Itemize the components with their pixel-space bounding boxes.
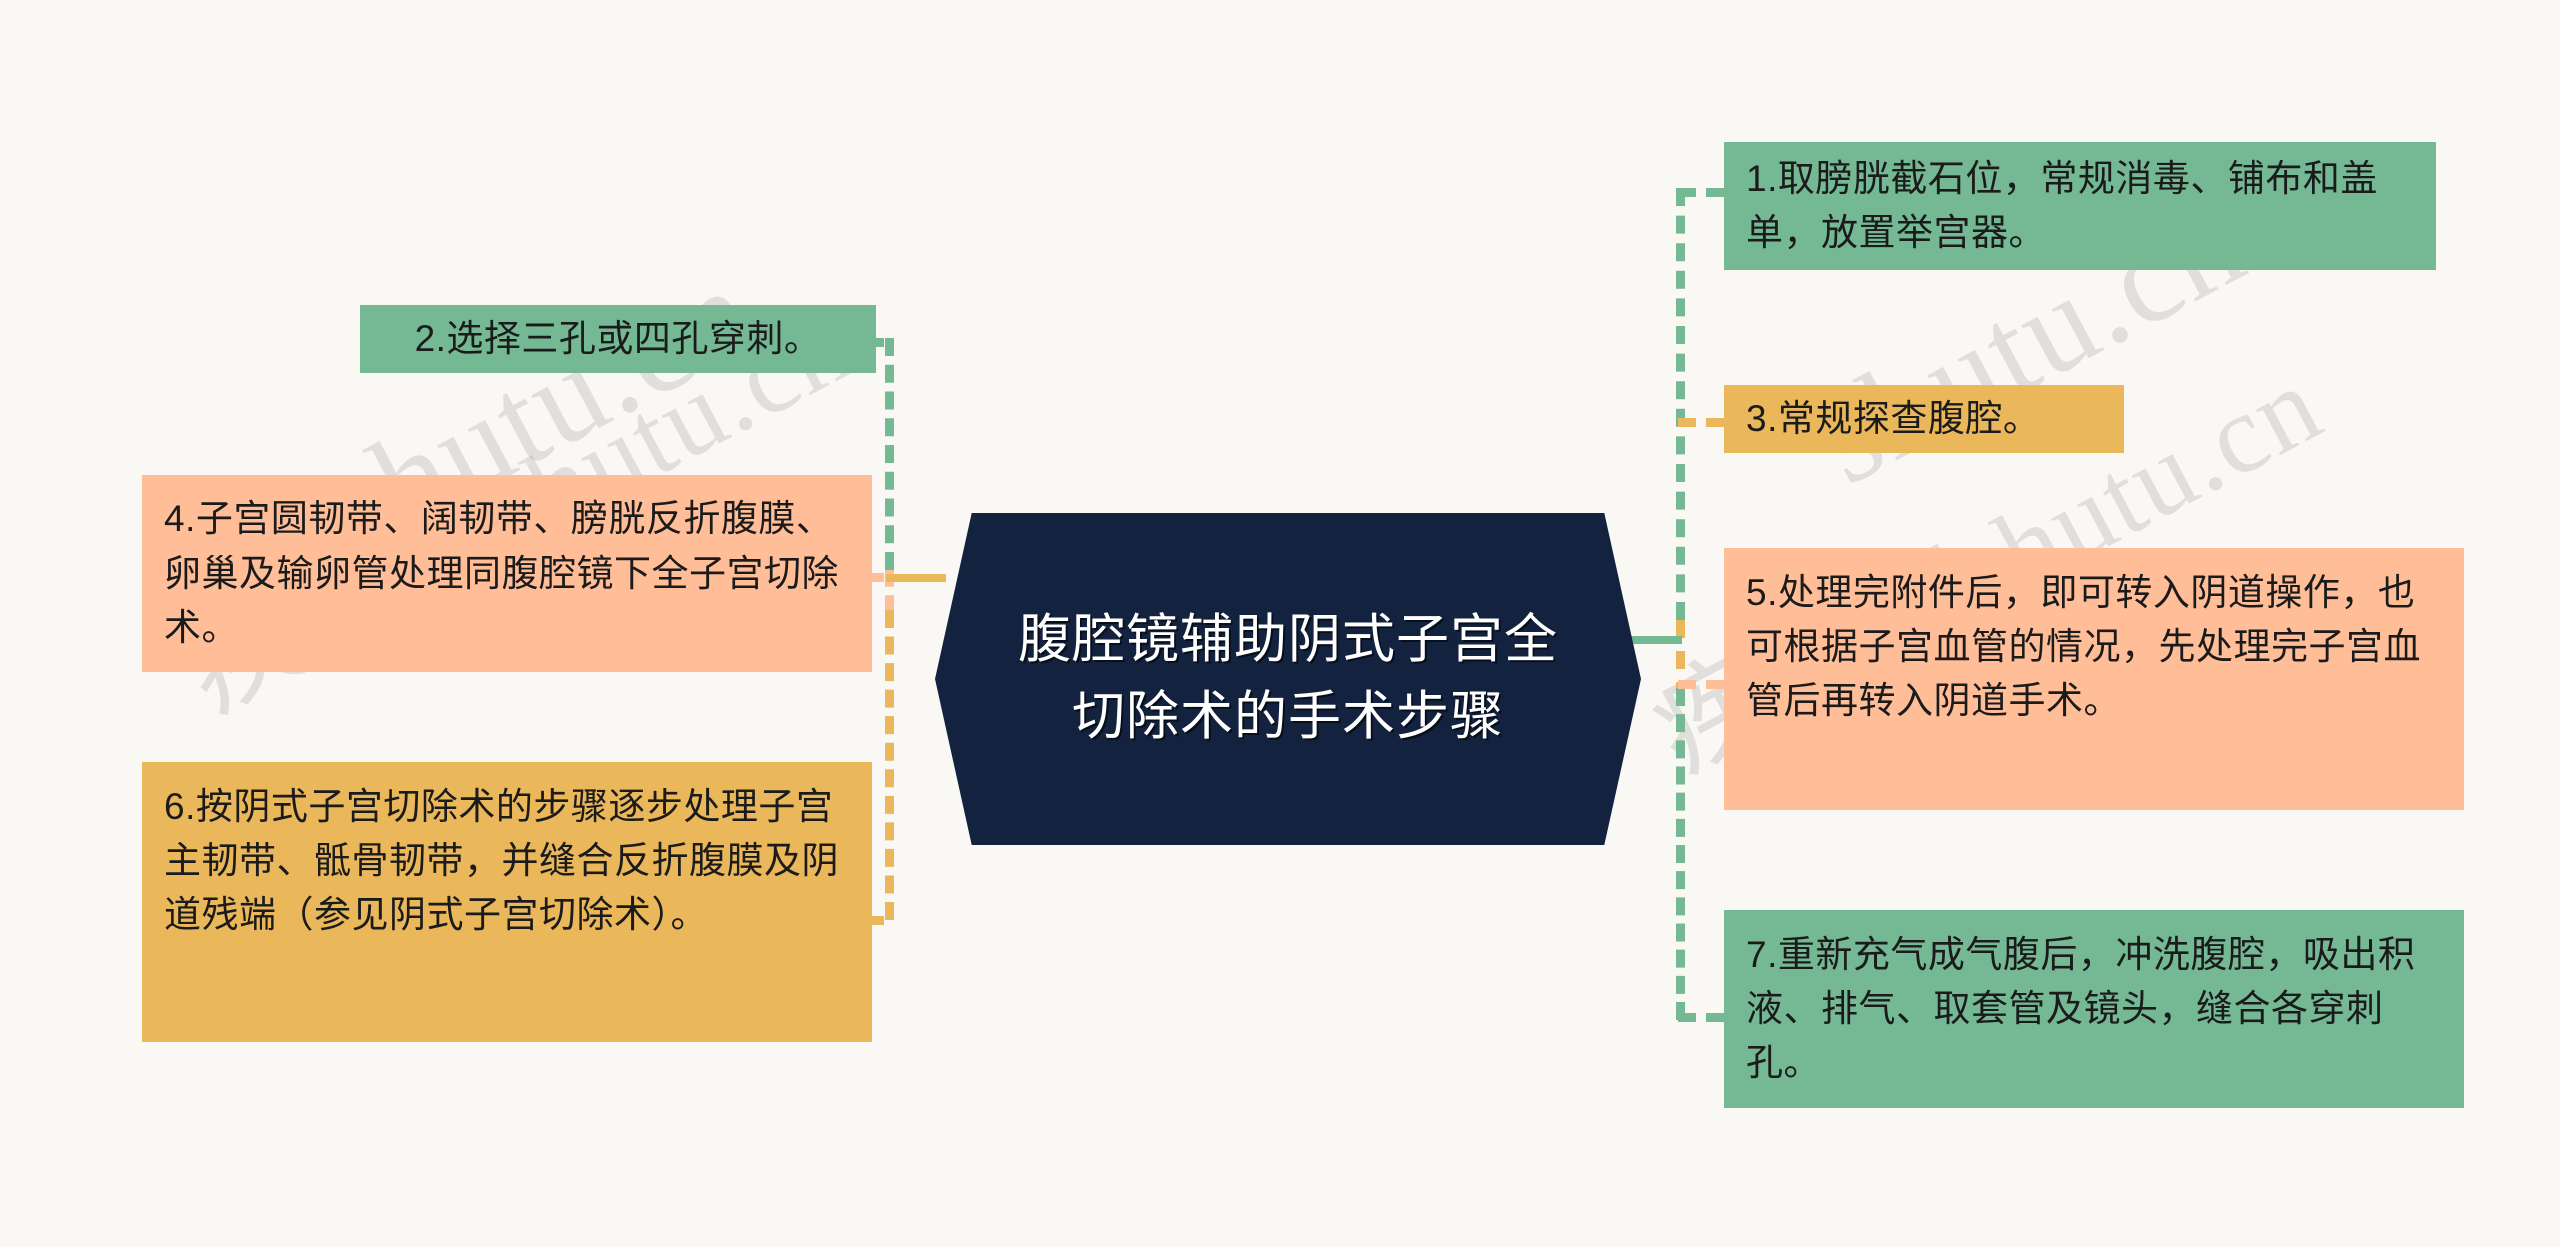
branch-node-step-5[interactable]: 5.处理完附件后，即可转入阴道操作，也可根据子宫血管的情况，先处理完子宫血管后再… [1724, 548, 2464, 810]
right-trunk-green-lower [1676, 688, 1685, 1020]
branch-node-step-2[interactable]: 2.选择三孔或四孔穿刺。 [360, 305, 876, 373]
branch-node-step-1[interactable]: 1.取膀胱截石位，常规消毒、铺布和盖单，放置举宫器。 [1724, 142, 2436, 270]
branch-node-step-4[interactable]: 4.子宫圆韧带、阔韧带、膀胱反折腹膜、卵巢及输卵管处理同腹腔镜下全子宫切除术。 [142, 475, 872, 672]
branch-label-step-7: 7.重新充气成气腹后，冲洗腹腔，吸出积液、排气、取套管及镜头，缝合各穿刺孔。 [1746, 928, 2442, 1090]
left-connector-to-center [886, 574, 946, 582]
branch-label-step-2: 2.选择三孔或四孔穿刺。 [382, 312, 854, 366]
right-stub-step-3 [1678, 418, 1724, 427]
branch-label-step-6: 6.按阴式子宫切除术的步骤逐步处理子宫主韧带、骶骨韧带，并缝合反折腹膜及阴道残端… [164, 780, 850, 942]
right-trunk-green-upper [1676, 188, 1685, 620]
branch-label-step-4: 4.子宫圆韧带、阔韧带、膀胱反折腹膜、卵巢及输卵管处理同腹腔镜下全子宫切除术。 [164, 492, 850, 654]
left-trunk-orange [885, 610, 894, 920]
left-trunk-green [885, 338, 894, 570]
center-node-label: 腹腔镜辅助阴式子宫全切除术的手术步骤 [1008, 602, 1568, 756]
branch-node-step-7[interactable]: 7.重新充气成气腹后，冲洗腹腔，吸出积液、排气、取套管及镜头，缝合各穿刺孔。 [1724, 910, 2464, 1108]
branch-node-step-3[interactable]: 3.常规探查腹腔。 [1724, 385, 2124, 453]
right-stub-step-1 [1678, 188, 1724, 197]
mindmap-canvas: shutu.cn 疾病库shutu.cn shutu.cn 疾病库shutu.c… [0, 0, 2560, 1247]
branch-label-step-3: 3.常规探查腹腔。 [1746, 392, 2102, 446]
right-stub-step-7 [1678, 1013, 1724, 1022]
right-connector-to-center [1630, 636, 1682, 644]
branch-label-step-5: 5.处理完附件后，即可转入阴道操作，也可根据子宫血管的情况，先处理完子宫血管后再… [1746, 566, 2442, 728]
center-node[interactable]: 腹腔镜辅助阴式子宫全切除术的手术步骤 [935, 513, 1641, 845]
branch-node-step-6[interactable]: 6.按阴式子宫切除术的步骤逐步处理子宫主韧带、骶骨韧带，并缝合反折腹膜及阴道残端… [142, 762, 872, 1042]
right-stub-step-5 [1678, 680, 1724, 689]
branch-label-step-1: 1.取膀胱截石位，常规消毒、铺布和盖单，放置举宫器。 [1746, 152, 2414, 260]
